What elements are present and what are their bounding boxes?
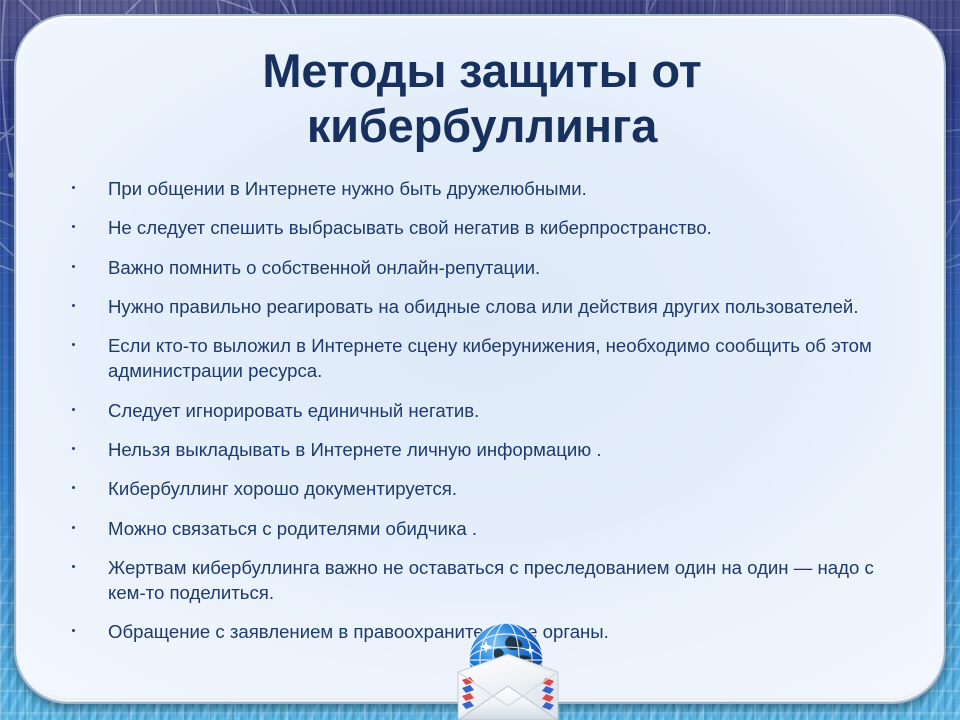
bullet-dot-icon bbox=[72, 565, 75, 568]
list-item: Кибербуллинг хорошо документируется. bbox=[60, 476, 908, 501]
bullet-dot-icon bbox=[72, 486, 75, 489]
bullet-dot-icon bbox=[72, 526, 75, 529]
list-item-text: Нельзя выкладывать в Интернете личную ин… bbox=[108, 437, 908, 462]
list-item-text: Следует игнорировать единичный негатив. bbox=[108, 398, 908, 423]
title-line-1: Методы защиты от bbox=[76, 44, 888, 99]
bullet-dot-icon bbox=[72, 225, 75, 228]
bullet-dot-icon bbox=[72, 265, 75, 268]
list-item: Следует игнорировать единичный негатив. bbox=[60, 398, 908, 423]
list-item-text: Обращение с заявлением в правоохранитель… bbox=[108, 619, 908, 644]
list-item-text: Важно помнить о собственной онлайн-репут… bbox=[108, 255, 908, 280]
list-item-text: Не следует спешить выбрасывать свой нега… bbox=[108, 215, 908, 240]
list-item: Если кто-то выложил в Интернете сцену ки… bbox=[60, 333, 908, 384]
presentation-slide: Методы защиты от кибербуллинга При общен… bbox=[0, 0, 960, 720]
list-item: Нужно правильно реагировать на обидные с… bbox=[60, 294, 908, 319]
list-item: При общении в Интернете нужно быть друже… bbox=[60, 176, 908, 201]
list-item: Важно помнить о собственной онлайн-репут… bbox=[60, 255, 908, 280]
list-item-text: Если кто-то выложил в Интернете сцену ки… bbox=[108, 333, 908, 384]
list-item: Не следует спешить выбрасывать свой нега… bbox=[60, 215, 908, 240]
list-item: Обращение с заявлением в правоохранитель… bbox=[60, 619, 908, 644]
bullet-dot-icon bbox=[72, 447, 75, 450]
list-item-text: При общении в Интернете нужно быть друже… bbox=[108, 176, 908, 201]
list-item-text: Жертвам кибербуллинга важно не оставатьс… bbox=[108, 555, 908, 606]
list-item: Жертвам кибербуллинга важно не оставатьс… bbox=[60, 555, 908, 606]
list-item-text: Кибербуллинг хорошо документируется. bbox=[108, 476, 908, 501]
list-item: Можно связаться с родителями обидчика . bbox=[60, 516, 908, 541]
page-title: Методы защиты от кибербуллинга bbox=[76, 44, 888, 153]
bullet-dot-icon bbox=[72, 186, 75, 189]
list-item-text: Нужно правильно реагировать на обидные с… bbox=[108, 294, 908, 319]
bullet-dot-icon bbox=[72, 629, 75, 632]
bullet-dot-icon bbox=[72, 408, 75, 411]
content-card: Методы защиты от кибербуллинга При общен… bbox=[14, 14, 946, 704]
list-item-text: Можно связаться с родителями обидчика . bbox=[108, 516, 908, 541]
bullet-dot-icon bbox=[72, 343, 75, 346]
bullet-dot-icon bbox=[72, 304, 75, 307]
list-item: Нельзя выкладывать в Интернете личную ин… bbox=[60, 437, 908, 462]
bullet-list: При общении в Интернете нужно быть друже… bbox=[60, 176, 908, 645]
title-line-2: кибербуллинга bbox=[76, 99, 888, 154]
